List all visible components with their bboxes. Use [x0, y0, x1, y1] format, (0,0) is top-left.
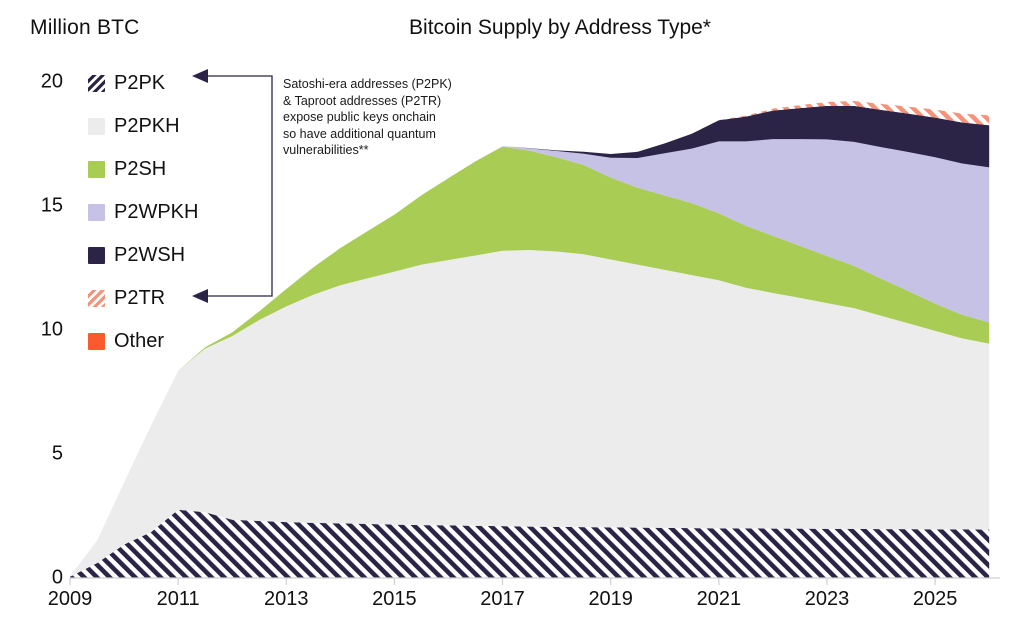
x-axis-tick-label: 2013	[264, 588, 309, 611]
annotation-line: & Taproot addresses (P2TR)	[283, 93, 518, 110]
legend-label: P2SH	[114, 158, 166, 181]
legend-item-p2sh[interactable]: P2SH	[88, 148, 288, 191]
y-axis-tick-label: 15	[41, 194, 63, 217]
x-axis-tick-label: 2015	[372, 588, 417, 611]
x-axis-tick-label: 2025	[913, 588, 958, 611]
legend-label: P2WSH	[114, 244, 185, 267]
annotation-line: so have additional quantum	[283, 126, 518, 143]
legend-item-p2pkh[interactable]: P2PKH	[88, 105, 288, 148]
legend-item-p2wpkh[interactable]: P2WPKH	[88, 191, 288, 234]
legend-swatch-p2wsh-icon	[88, 247, 105, 264]
legend-label: P2TR	[114, 287, 165, 310]
x-axis-tick-label: 2009	[48, 588, 93, 611]
annotation-note: Satoshi-era addresses (P2PK)& Taproot ad…	[283, 76, 518, 159]
legend-swatch-p2sh-icon	[88, 161, 105, 178]
y-axis-tick-label: 5	[52, 442, 63, 465]
legend-item-other[interactable]: Other	[88, 320, 288, 363]
y-axis-tick-label: 10	[41, 318, 63, 341]
y-axis-ticks: 05101520	[18, 0, 63, 617]
legend-swatch-other-icon	[88, 333, 105, 350]
legend-swatch-p2pkh-icon	[88, 118, 105, 135]
legend-item-p2wsh[interactable]: P2WSH	[88, 234, 288, 277]
legend-item-p2tr[interactable]: P2TR	[88, 277, 288, 320]
annotation-line: vulnerabilities**	[283, 142, 518, 159]
y-axis-tick-label: 0	[52, 567, 63, 590]
x-axis-tick-label: 2011	[157, 588, 200, 611]
legend-label: P2PK	[114, 72, 165, 95]
annotation-line: expose public keys onchain	[283, 109, 518, 126]
y-axis-tick-label: 20	[41, 70, 63, 93]
legend-swatch-p2wpkh-icon	[88, 204, 105, 221]
x-axis-tick-label: 2017	[480, 588, 525, 611]
chart-legend: P2PKP2PKHP2SHP2WPKHP2WSHP2TROther	[88, 62, 288, 363]
x-axis-tick-label: 2019	[588, 588, 633, 611]
x-axis-tick-label: 2021	[697, 588, 742, 611]
legend-swatch-p2pk-icon	[88, 75, 105, 92]
legend-label: P2PKH	[114, 115, 180, 138]
legend-label: P2WPKH	[114, 201, 198, 224]
legend-swatch-p2tr-icon	[88, 290, 105, 307]
legend-item-p2pk[interactable]: P2PK	[88, 62, 288, 105]
legend-label: Other	[114, 330, 164, 353]
annotation-line: Satoshi-era addresses (P2PK)	[283, 76, 518, 93]
x-axis-tick-label: 2023	[805, 588, 850, 611]
